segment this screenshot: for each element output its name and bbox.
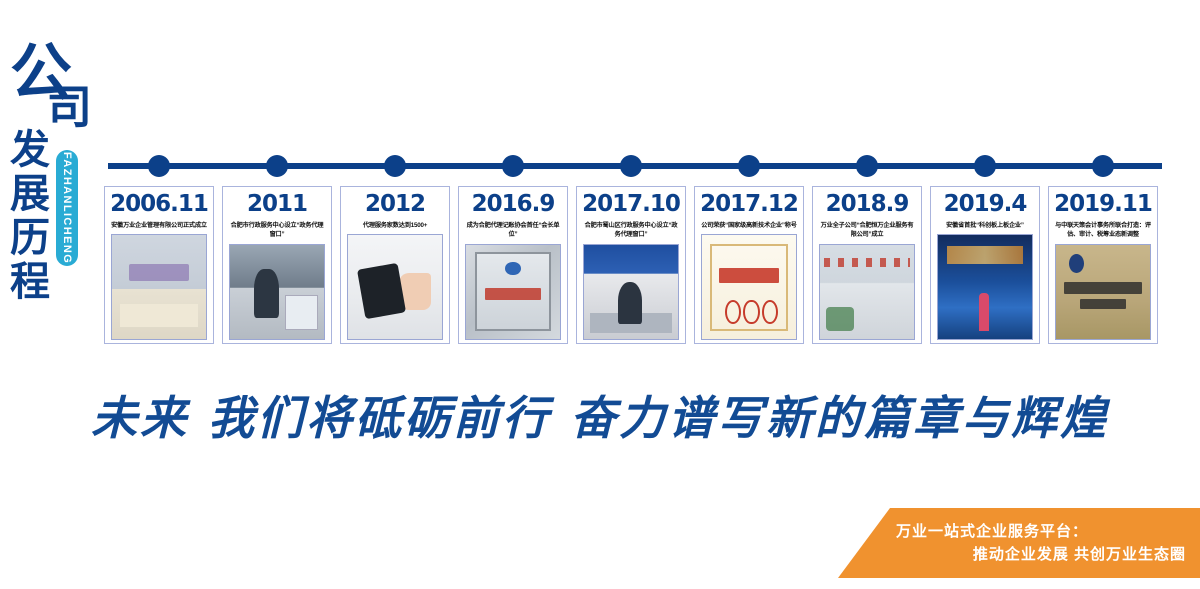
photo-silver-plaque (465, 244, 561, 340)
slogan-text: 未来 我们将砥砺前行 奋力谱写新的篇章与辉煌 (0, 382, 1200, 448)
signboard-text-line-1 (1064, 282, 1143, 293)
timeline-node-7[interactable] (856, 155, 878, 177)
timeline-node-1[interactable] (148, 155, 170, 177)
title-char-2: 司 (46, 84, 92, 130)
milestone-caption: 安徽省首批“科创板上板企业” (944, 221, 1026, 230)
milestone-year: 2019.4 (944, 193, 1027, 216)
title-char-5: 历 (10, 218, 50, 258)
milestone-caption: 代理服务家数达到1500+ (361, 221, 429, 230)
plaque-red-text (485, 288, 541, 300)
milestone-card[interactable]: 2017.10 合肥市蜀山区行政服务中心设立“政务代理窗口” (576, 186, 686, 344)
milestone-year: 2017.12 (700, 193, 798, 216)
photo-conference-stage (937, 234, 1033, 340)
photo-firm-signboard (1055, 244, 1151, 340)
photo-hightech-certificate (701, 234, 797, 340)
title-pinyin-text: FAZHANLICHENG (61, 152, 73, 264)
certificate-seal (762, 300, 778, 325)
certificate-title-text (719, 268, 779, 283)
footer-banner-line-2: 推动企业发展 共创万业生态圈 (896, 543, 1186, 566)
photo-office-hall (819, 244, 915, 340)
title-char-4: 展 (10, 174, 50, 214)
milestone-year: 2017.10 (582, 193, 680, 216)
photo-calculator (347, 234, 443, 340)
milestone-caption: 成为合肥代理记账协会首任“会长单位” (462, 221, 564, 240)
timeline-node-4[interactable] (502, 155, 524, 177)
title-char-6: 程 (10, 262, 50, 302)
milestone-card[interactable]: 2017.12 公司荣获“国家级高新技术企业”称号 (694, 186, 804, 344)
milestone-caption: 合肥市行政服务中心设立“政务代理窗口” (226, 221, 328, 240)
footer-banner-line-1: 万业一站式企业服务平台： (896, 520, 1186, 543)
timeline-node-2[interactable] (266, 155, 288, 177)
certificate-seal (725, 300, 741, 325)
milestone-year: 2016.9 (472, 193, 555, 216)
timeline-node-9[interactable] (1092, 155, 1114, 177)
milestone-card[interactable]: 2019.4 安徽省首批“科创板上板企业” (930, 186, 1040, 344)
milestone-caption: 与中联天策会计事务所联合打造：评估、审计、税筹业态新调整 (1052, 221, 1154, 240)
milestone-card[interactable]: 2016.9 成为合肥代理记账协会首任“会长单位” (458, 186, 568, 344)
milestone-year: 2011 (247, 193, 307, 216)
milestone-card-row: 2006.11 安徽万业企业管理有限公司正式成立 2011 合肥市行政服务中心设… (104, 186, 1164, 346)
photo-service-desk (583, 244, 679, 340)
timeline-bar (108, 163, 1162, 169)
signboard-text-line-2 (1080, 299, 1125, 308)
milestone-card[interactable]: 2006.11 安徽万业企业管理有限公司正式成立 (104, 186, 214, 344)
milestone-year: 2018.9 (826, 193, 909, 216)
milestone-year: 2006.11 (110, 193, 208, 216)
footer-banner: 万业一站式企业服务平台： 推动企业发展 共创万业生态圈 (838, 508, 1200, 578)
title-pinyin-pill: FAZHANLICHENG (56, 150, 78, 266)
milestone-card[interactable]: 2019.11 与中联天策会计事务所联合打造：评估、审计、税筹业态新调整 (1048, 186, 1158, 344)
milestone-card[interactable]: 2018.9 万业全子公司“合肥恒万企业服务有限公司”成立 (812, 186, 922, 344)
title-char-3: 发 (10, 130, 50, 170)
photo-office-reception (111, 234, 207, 340)
timeline-node-3[interactable] (384, 155, 406, 177)
timeline-node-5[interactable] (620, 155, 642, 177)
milestone-card[interactable]: 2011 合肥市行政服务中心设立“政务代理窗口” (222, 186, 332, 344)
milestone-caption: 公司荣获“国家级高新技术企业”称号 (699, 221, 799, 230)
plaque-emblem (505, 262, 520, 275)
photo-service-counter (229, 244, 325, 340)
milestone-year: 2012 (365, 193, 425, 216)
milestone-caption: 安徽万业企业管理有限公司正式成立 (109, 221, 209, 230)
milestone-year: 2019.11 (1054, 193, 1152, 216)
timeline-node-8[interactable] (974, 155, 996, 177)
milestone-caption: 万业全子公司“合肥恒万企业服务有限公司”成立 (816, 221, 918, 240)
certificate-seal (743, 300, 759, 325)
page-title-block: 公 司 发 展 历 程 FAZHANLICHENG (6, 28, 106, 268)
timeline-node-6[interactable] (738, 155, 760, 177)
milestone-caption: 合肥市蜀山区行政服务中心设立“政务代理窗口” (580, 221, 682, 240)
signboard-emblem (1069, 254, 1084, 273)
milestone-card[interactable]: 2012 代理服务家数达到1500+ (340, 186, 450, 344)
